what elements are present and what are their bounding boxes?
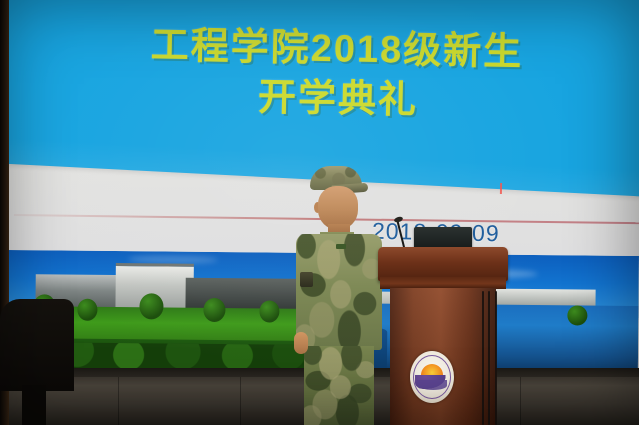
cable — [495, 291, 497, 425]
slide-accent-tick — [500, 183, 502, 194]
cable — [482, 291, 484, 425]
hand — [294, 332, 308, 354]
seal-ring — [413, 355, 451, 399]
tree — [567, 305, 587, 325]
cable — [488, 291, 490, 425]
photo-scene: 工程学院2018级新生 开学典礼 2018-09-09 — [0, 0, 639, 425]
uniform-torso — [296, 234, 382, 350]
wall-seam — [118, 377, 119, 425]
tree — [259, 300, 279, 322]
wall-seam — [240, 377, 241, 425]
speaker-figure — [292, 166, 388, 425]
tree — [77, 299, 97, 321]
tree — [203, 298, 225, 322]
uniform-legs — [304, 346, 374, 425]
foreground-object-stem — [22, 385, 46, 425]
podium-top — [378, 247, 508, 281]
laptop-screen — [414, 227, 472, 249]
podium — [378, 247, 508, 425]
uniform-pocket — [300, 272, 313, 287]
university-seal-icon — [410, 351, 454, 403]
foreground-object — [0, 299, 74, 391]
rank-insignia — [336, 244, 346, 249]
tree — [139, 293, 163, 319]
wall-seam — [520, 377, 521, 425]
